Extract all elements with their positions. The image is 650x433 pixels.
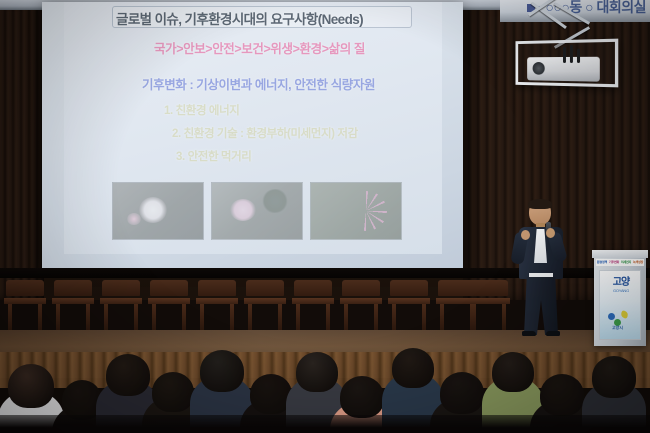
audience-head [296,352,338,392]
slide-bullet-2: 2. 친환경 기술 : 환경부하(미세먼지) 저감 [172,125,358,141]
podium-strip-item: 미세먼지 [620,259,632,266]
podium-header-strip: 환경정책 기후변화 미세먼지 녹색성장 [596,259,644,266]
audience-head [540,374,584,416]
audience-head [592,356,636,398]
audience-head [106,354,150,396]
speaker-hair [528,199,552,209]
slide-bullet-3: 3. 안전한 먹거리 [176,148,251,164]
slide-photo-2 [211,182,303,240]
emblem-dot-yellow-icon [620,310,629,319]
podium-strip-item: 녹색성장 [632,259,644,266]
audience-head [152,372,194,412]
slide-line-hierarchy: 국가>안보>안전>보건>위생>환경>삶의 질 [154,38,444,57]
podium-strip-item: 환경정책 [596,259,608,266]
podium-logo-text: 고양 [606,277,636,288]
emblem-dot-blue-icon [608,313,615,320]
ceiling-projector [512,10,622,88]
stage-chair [4,280,46,332]
projector-cage [516,39,619,88]
audience-head [340,376,384,418]
podium-emblem-text: 고양시 [612,325,623,331]
speaker-hand-left [521,230,530,240]
slide-photo-1 [112,182,204,240]
stage-chair [468,280,510,332]
podium-strip-item: 기후변화 [608,259,620,266]
stage-chair [388,280,430,332]
foreground-shadow [0,415,650,433]
slide-photo-row [112,182,402,240]
podium-logo-subtext: GOYANG [606,288,636,293]
audience-head [8,364,54,408]
podium: 환경정책 기후변화 미세먼지 녹색성장 고양 GOYANG 고양시 [594,250,646,346]
speaker-belt [529,273,553,277]
audience-head [392,348,434,388]
slide-line-climate: 기후변화 : 기상이변과 에너지, 안전한 식량자원 [142,74,462,93]
stage-chair [52,280,94,332]
stage-chair [196,280,238,332]
projector-cables [563,44,589,65]
audience-head [492,352,534,392]
speaker-hand-right [546,228,555,238]
podium-front-panel: 고양 GOYANG 고양시 [599,270,641,340]
projection-screen: 글로벌 이슈, 기후환경시대의 요구사항(Needs) 국가>안보>안전>보건>… [42,2,463,270]
stage-chair [148,280,190,332]
stage-curtain-left [0,0,44,300]
speaker-trousers [524,277,558,335]
speaker-figure [505,200,579,335]
stage-chair [100,280,142,332]
podium-logo: 고양 GOYANG [606,277,636,299]
photograph-scene: ▪ ○○○동 ○ 대회의실 글로벌 이슈, 기후환경시대의 요구사항(Needs… [0,0,650,433]
speaker-shoe-left [522,331,536,336]
podium-top-surface [592,250,648,258]
podium-emblem: 고양시 [608,311,634,331]
stage-chair [244,280,286,332]
stage-chair [340,280,382,332]
slide-bullet-1: 1. 친환경 에너지 [164,102,239,118]
speaker-shoe-right [546,331,560,336]
slide-photo-3 [310,182,402,240]
projector-lens-icon [533,62,545,75]
stage-chair [292,280,334,332]
audience-head [200,350,244,392]
presentation-slide: 글로벌 이슈, 기후환경시대의 요구사항(Needs) 국가>안보>안전>보건>… [64,2,442,254]
audience-head [440,372,484,414]
slide-title: 글로벌 이슈, 기후환경시대의 요구사항(Needs) [116,8,416,28]
